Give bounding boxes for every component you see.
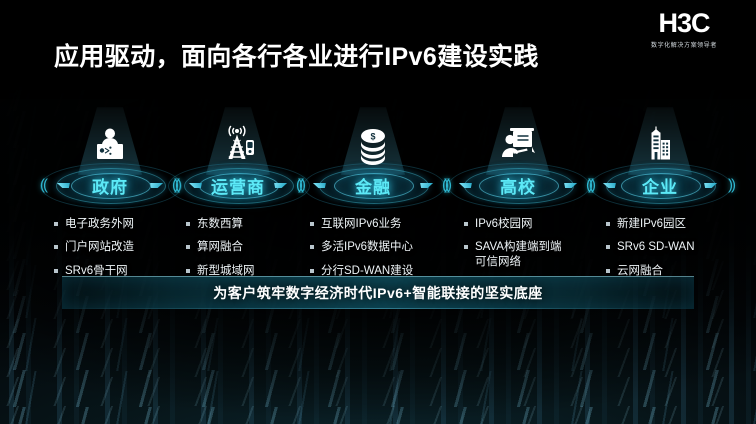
list-item-label: 多活IPv6数据中心: [321, 240, 413, 254]
label-ring: (( )) 企业: [590, 167, 730, 203]
antenna-tower-icon: [217, 121, 259, 165]
chevron-left-icon: ((: [442, 178, 448, 193]
logo-tagline: 数字化解决方案领导者: [634, 40, 734, 49]
svg-text:$: $: [370, 132, 375, 142]
bullet-square-icon: [464, 245, 468, 249]
teacher-blackboard-icon: [497, 123, 539, 165]
list-item-label: 门户网站改造: [65, 240, 134, 254]
icon-area: [446, 105, 590, 165]
bullet-square-icon: [310, 269, 314, 273]
bullet-square-icon: [310, 222, 314, 226]
industry-column-enterprise[interactable]: (( )) 企业 新建IPv6园区 SRv6 SD-WAN 云网融合: [590, 105, 730, 287]
chevron-left-icon: ((: [586, 178, 592, 193]
list-item: 多活IPv6数据中心: [310, 240, 446, 254]
chevron-right-icon: )): [728, 178, 734, 193]
bullet-square-icon: [54, 222, 58, 226]
footer-banner: 为客户筑牢数字经济时代IPv6+智能联接的坚实底座: [62, 276, 694, 309]
list-item: 电子政务外网: [54, 217, 176, 231]
list-item: 门户网站改造: [54, 240, 176, 254]
chevron-left-icon: ((: [296, 178, 302, 193]
industry-columns: (( )) 政府 电子政务外网 门户网站改造 SRv6骨干网: [44, 105, 730, 287]
feature-list: IPv6校园网 SAVA构建端到端 可信网络: [446, 217, 590, 269]
list-item: IPv6校园网: [464, 217, 590, 231]
list-item-label: 东数西算: [197, 217, 243, 231]
feature-list: 互联网IPv6业务 多活IPv6数据中心 分行SD-WAN建设: [300, 217, 446, 278]
list-item-label: 算网融合: [197, 240, 243, 254]
bullet-square-icon: [606, 269, 610, 273]
office-buildings-icon: [639, 123, 681, 165]
icon-area: $: [300, 105, 446, 165]
feature-list: 电子政务外网 门户网站改造 SRv6骨干网: [44, 217, 176, 278]
feature-list: 新建IPv6园区 SRv6 SD-WAN 云网融合: [590, 217, 730, 278]
category-label: 高校: [500, 173, 536, 198]
footer-banner-text: 为客户筑牢数字经济时代IPv6+智能联接的坚实底座: [213, 283, 542, 303]
bullet-square-icon: [606, 222, 610, 226]
industry-column-finance[interactable]: $ (( )) 金融 互联网IPv6业务 多活IPv6数据中心: [300, 105, 446, 287]
chevron-left-icon: ((: [40, 178, 46, 193]
list-item: SAVA构建端到端 可信网络: [464, 240, 590, 269]
chevron-left-icon: ((: [172, 178, 178, 193]
industry-column-government[interactable]: (( )) 政府 电子政务外网 门户网站改造 SRv6骨干网: [44, 105, 176, 287]
list-item: 东数西算: [186, 217, 300, 231]
list-item: 算网融合: [186, 240, 300, 254]
icon-area: [590, 105, 730, 165]
category-label: 企业: [642, 173, 678, 198]
page-title: 应用驱动，面向各行各业进行IPv6建设实践: [54, 37, 539, 73]
industry-column-university[interactable]: (( )) 高校 IPv6校园网 SAVA构建端到端 可信网络: [446, 105, 590, 287]
bullet-square-icon: [186, 222, 190, 226]
presentation-slide: H3C 数字化解决方案领导者 应用驱动，面向各行各业进行IPv6建设实践: [0, 0, 756, 424]
list-item: SRv6 SD-WAN: [606, 240, 730, 254]
feature-list: 东数西算 算网融合 新型城域网: [176, 217, 300, 278]
industry-column-carrier[interactable]: (( )) 运营商 东数西算 算网融合 新型城域网: [176, 105, 300, 287]
label-ring: (( )) 运营商: [176, 167, 300, 203]
icon-area: [44, 105, 176, 165]
bullet-square-icon: [54, 245, 58, 249]
list-item-label: 新建IPv6园区: [617, 217, 686, 231]
bullet-square-icon: [54, 269, 58, 273]
category-label: 政府: [92, 173, 128, 198]
label-ring: (( )) 金融: [300, 167, 446, 203]
list-item-label: SAVA构建端到端 可信网络: [475, 240, 561, 269]
bullet-square-icon: [186, 269, 190, 273]
label-ring: (( )) 高校: [446, 167, 590, 203]
coin-stack-icon: $: [351, 125, 395, 165]
list-item: 新建IPv6园区: [606, 217, 730, 231]
list-item: 互联网IPv6业务: [310, 217, 446, 231]
bullet-square-icon: [186, 245, 190, 249]
icon-area: [176, 105, 300, 165]
category-label: 金融: [355, 173, 391, 198]
bullet-square-icon: [464, 222, 468, 226]
list-item-label: SRv6 SD-WAN: [617, 240, 695, 254]
list-item-label: 互联网IPv6业务: [321, 217, 402, 231]
logo-wordmark: H3C: [634, 10, 734, 37]
podium-person-icon: [89, 123, 131, 165]
label-ring: (( )) 政府: [44, 167, 176, 203]
category-label: 运营商: [211, 173, 265, 198]
list-item-label: 电子政务外网: [65, 217, 134, 231]
bullet-square-icon: [310, 245, 314, 249]
list-item-label: IPv6校园网: [475, 217, 533, 231]
h3c-logo: H3C 数字化解决方案领导者: [634, 10, 734, 49]
bullet-square-icon: [606, 245, 610, 249]
